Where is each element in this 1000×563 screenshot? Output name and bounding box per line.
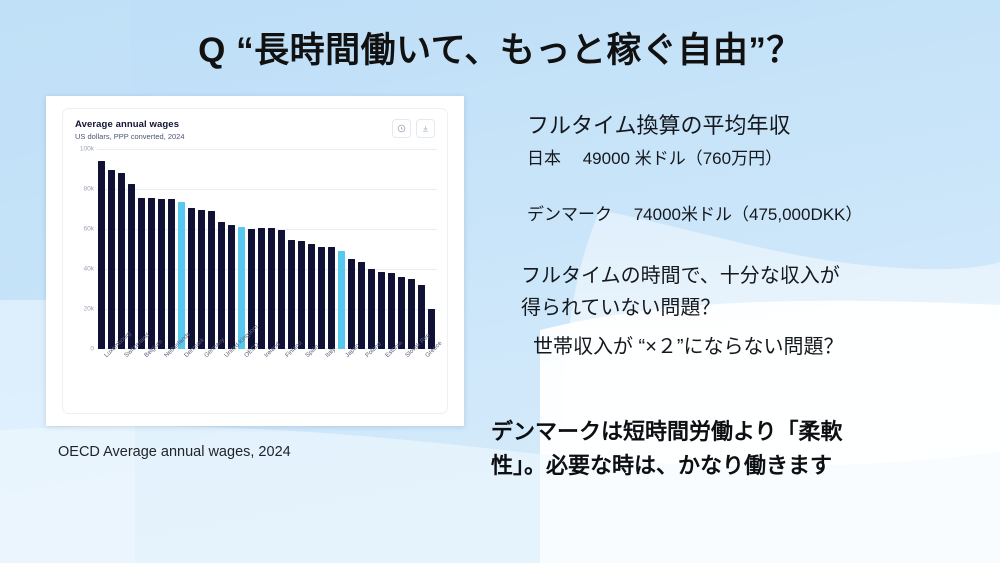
bar[interactable] xyxy=(138,198,145,349)
right-text-question-line1: フルタイムの時間で、十分な収入が xyxy=(521,259,840,288)
chart-subtitle: US dollars, PPP converted, 2024 xyxy=(75,132,435,141)
bar[interactable] xyxy=(108,170,115,349)
bar[interactable] xyxy=(378,272,385,349)
bar[interactable] xyxy=(338,251,345,349)
bar[interactable] xyxy=(348,259,355,349)
bar[interactable] xyxy=(268,228,275,349)
bar[interactable] xyxy=(278,230,285,349)
bar[interactable] xyxy=(298,241,305,349)
bar[interactable] xyxy=(308,244,315,349)
bar[interactable] xyxy=(178,202,185,349)
right-text-japan-wage: 日本 49000 米ドル（760万円） xyxy=(527,144,782,169)
y-axis-tick: 40k xyxy=(84,266,94,273)
y-axis-tick: 100k xyxy=(80,146,94,153)
bar[interactable] xyxy=(258,228,265,349)
bar[interactable] xyxy=(118,173,125,349)
bar[interactable] xyxy=(328,247,335,349)
page-title: Q “長時間働いて、もっと稼ぐ自由”？ xyxy=(0,22,1000,73)
chart-screenshot-card: Average annual wages US dollars, PPP con… xyxy=(46,96,464,426)
bar[interactable] xyxy=(168,199,175,349)
right-text-question-line3: 世帯収入が “×２”にならない問題？ xyxy=(533,330,844,359)
right-text-heading: フルタイム換算の平均年収 xyxy=(527,108,791,140)
y-axis-tick: 60k xyxy=(84,226,94,233)
bar-series xyxy=(98,149,435,349)
right-text-denmark-wage: デンマーク 74000米ドル（475,000DKK） xyxy=(527,200,862,225)
chart-source-caption: OECD Average annual wages, 2024 xyxy=(58,444,291,460)
bar[interactable] xyxy=(158,199,165,349)
y-axis-tick: 0 xyxy=(90,346,94,353)
y-axis-labels: 100k80k60k40k20k0 xyxy=(75,149,97,349)
bar[interactable] xyxy=(188,208,195,349)
bar[interactable] xyxy=(128,184,135,349)
bar[interactable] xyxy=(368,269,375,349)
bar[interactable] xyxy=(288,240,295,349)
right-text-conclusion-line2: 性」。必要な時は、かなり働きます xyxy=(491,448,832,480)
bar[interactable] xyxy=(398,277,405,349)
history-icon[interactable] xyxy=(392,119,411,138)
y-axis-tick: 20k xyxy=(84,306,94,313)
bar[interactable] xyxy=(228,225,235,349)
bar[interactable] xyxy=(318,247,325,349)
chart-header: Average annual wages US dollars, PPP con… xyxy=(75,119,435,141)
chart-plot-area: 100k80k60k40k20k0 xyxy=(75,149,437,349)
x-axis-labels: LuxembourgSwitzerlandBelgiumNetherlandsD… xyxy=(98,352,448,410)
bar[interactable] xyxy=(358,262,365,349)
bar[interactable] xyxy=(98,161,105,349)
chart-action-buttons xyxy=(392,119,435,138)
download-icon[interactable] xyxy=(416,119,435,138)
y-axis-tick: 80k xyxy=(84,186,94,193)
slide-canvas: Q “長時間働いて、もっと稼ぐ自由”？ Average annual wages… xyxy=(0,0,1000,563)
bar[interactable] xyxy=(148,198,155,349)
chart-title: Average annual wages xyxy=(75,119,435,130)
bar[interactable] xyxy=(388,273,395,349)
chart-panel: Average annual wages US dollars, PPP con… xyxy=(62,108,448,414)
bar[interactable] xyxy=(198,210,205,349)
bar[interactable] xyxy=(408,279,415,349)
right-text-question-line2: 得られていない問題？ xyxy=(521,291,720,320)
bar[interactable] xyxy=(238,227,245,349)
bar[interactable] xyxy=(218,222,225,349)
bar[interactable] xyxy=(208,211,215,349)
right-text-conclusion-line1: デンマークは短時間労働より「柔軟 xyxy=(491,414,843,446)
